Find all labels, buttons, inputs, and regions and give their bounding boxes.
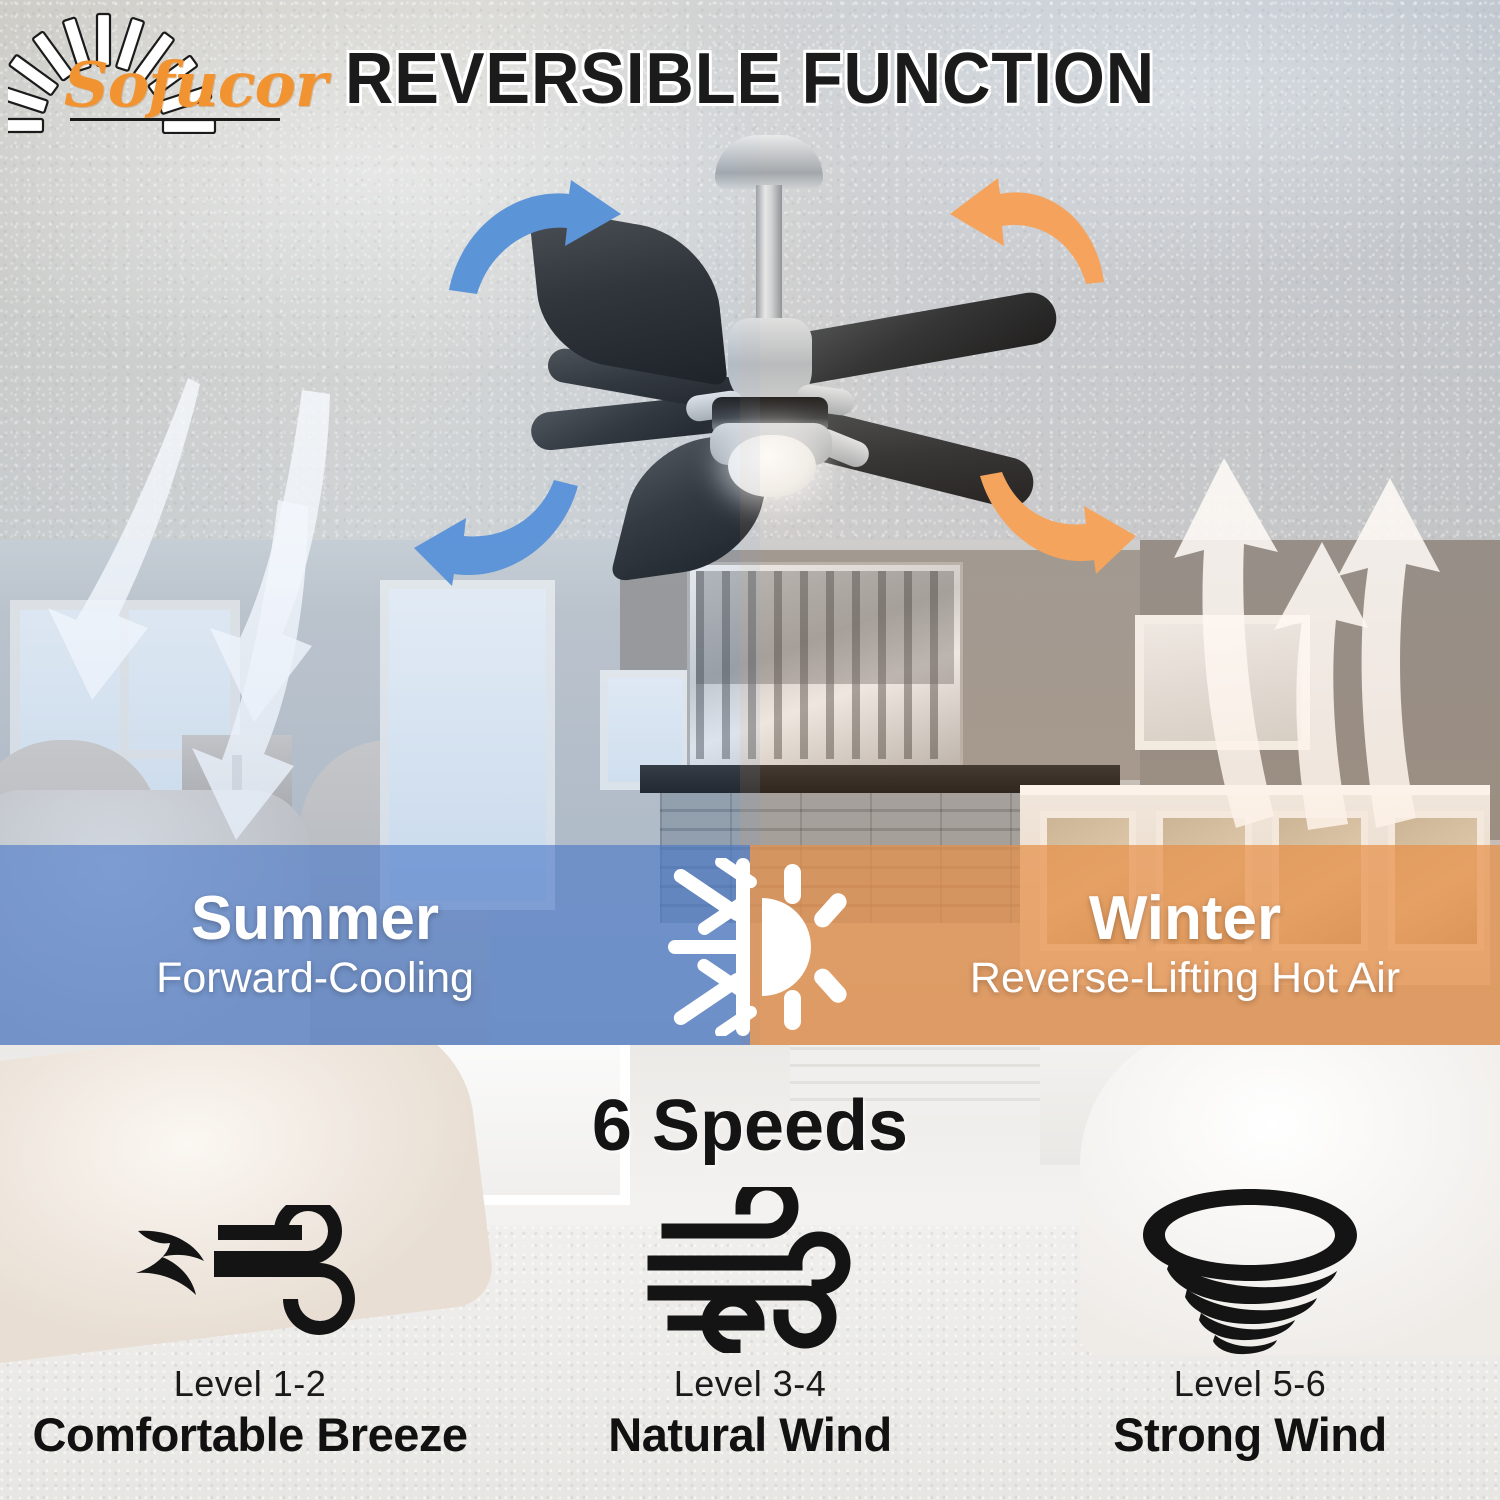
speed-item-natural-wind: Level 3-4 Natural Wind	[500, 1185, 1000, 1495]
speed-level-label: Level 5-6	[1174, 1363, 1327, 1405]
sun-icon	[762, 864, 850, 1030]
curved-arrow-right-blue-icon	[445, 178, 625, 298]
framed-mirror	[1135, 615, 1310, 750]
speed-name-label: Strong Wind	[1113, 1407, 1386, 1462]
wall-artwork	[690, 565, 960, 765]
speed-level-label: Level 3-4	[674, 1363, 827, 1405]
ceiling-fan	[600, 135, 940, 495]
speed-name-label: Natural Wind	[608, 1407, 891, 1462]
winter-title: Winter	[1089, 887, 1281, 950]
curved-arrow-right-orange-icon	[978, 470, 1138, 580]
speeds-heading: 6 Speeds	[0, 1085, 1500, 1167]
fan-downrod	[756, 185, 782, 325]
curved-arrow-left-blue-icon	[412, 478, 582, 588]
page-title: REVERSIBLE FUNCTION	[53, 38, 1448, 120]
summer-title: Summer	[191, 887, 439, 950]
speed-item-strong-wind: Level 5-6 Strong Wind	[1000, 1185, 1500, 1495]
winter-subtitle: Reverse-Lifting Hot Air	[970, 954, 1400, 1003]
fan-canopy	[715, 135, 823, 189]
snowflake-sun-split-icon	[638, 858, 866, 1036]
speed-item-comfortable-breeze: Level 1-2 Comfortable Breeze	[0, 1185, 500, 1495]
leaf-breeze-icon	[130, 1185, 370, 1355]
speed-level-label: Level 1-2	[174, 1363, 327, 1405]
speed-name-label: Comfortable Breeze	[33, 1407, 468, 1462]
product-infographic: Sofucor REVERSIBLE FUNCTION Summer Forwa…	[0, 0, 1500, 1500]
curved-arrow-left-orange-icon	[948, 172, 1108, 287]
summer-subtitle: Forward-Cooling	[156, 954, 474, 1003]
wind-lines-icon	[645, 1185, 855, 1355]
fan-light-dome	[728, 435, 816, 497]
snowflake-icon	[668, 858, 759, 1036]
speed-levels-row: Level 1-2 Comfortable Breeze Level 3-4 N…	[0, 1185, 1500, 1495]
tornado-icon	[1135, 1185, 1365, 1355]
